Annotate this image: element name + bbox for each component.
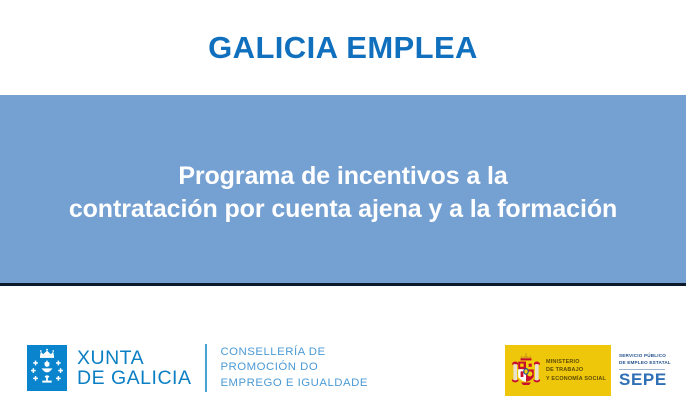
banner-line-2: contratación por cuenta ajena y a la for… (13, 193, 673, 227)
xunta-wordmark: XUNTA DE GALICIA (77, 348, 191, 388)
footer-area: XUNTA DE GALICIA CONSELLERÍA DE PROMOCIÓ… (0, 286, 686, 410)
ministerio-line-2: DE TRABAJO (546, 366, 606, 374)
conselleria-line-3: EMPREGO E IGUALDADE (220, 376, 367, 391)
logo-divider (205, 344, 207, 392)
conselleria-line-2: PROMOCIÓN DO (220, 360, 367, 375)
page-title: GALICIA EMPLEA (208, 32, 478, 63)
spanish-coat-of-arms-icon (511, 352, 541, 390)
banner-line-1: Programa de incentivos a la (13, 160, 673, 194)
banner-text-block: Programa de incentivos a la contratación… (13, 152, 673, 227)
conselleria-line-1: CONSELLERÍA DE (220, 345, 367, 360)
sepe-fullname-line-1: SERVICIO PÚBLICO (619, 353, 671, 360)
sepe-fullname: SERVICIO PÚBLICO DE EMPLEO ESTATAL (619, 353, 671, 367)
slide-root: GALICIA EMPLEA Programa de incentivos a … (0, 0, 686, 410)
ministerio-logo: MINISTERIO DE TRABAJO Y ECONOMÍA SOCIAL (505, 345, 611, 396)
sepe-fullname-line-2: DE EMPLEO ESTATAL (619, 360, 671, 367)
banner-band: Programa de incentivos a la contratación… (0, 95, 686, 283)
ministerio-line-1: MINISTERIO (546, 358, 606, 366)
conselleria-name: CONSELLERÍA DE PROMOCIÓN DO EMPREGO E IG… (220, 345, 367, 390)
header-area: GALICIA EMPLEA (0, 0, 686, 95)
ministerio-line-3: Y ECONOMÍA SOCIAL (546, 375, 606, 383)
xunta-wordmark-line-1: XUNTA (77, 348, 191, 368)
ministerio-text: MINISTERIO DE TRABAJO Y ECONOMÍA SOCIAL (546, 358, 606, 382)
xunta-de-galicia-logo: XUNTA DE GALICIA CONSELLERÍA DE PROMOCIÓ… (27, 344, 368, 392)
xunta-coat-of-arms-icon (27, 345, 67, 391)
sepe-acronym: SEPE (619, 371, 667, 388)
xunta-wordmark-line-2: DE GALICIA (77, 368, 191, 388)
sepe-logo: SERVICIO PÚBLICO DE EMPLEO ESTATAL SEPE (611, 345, 679, 396)
